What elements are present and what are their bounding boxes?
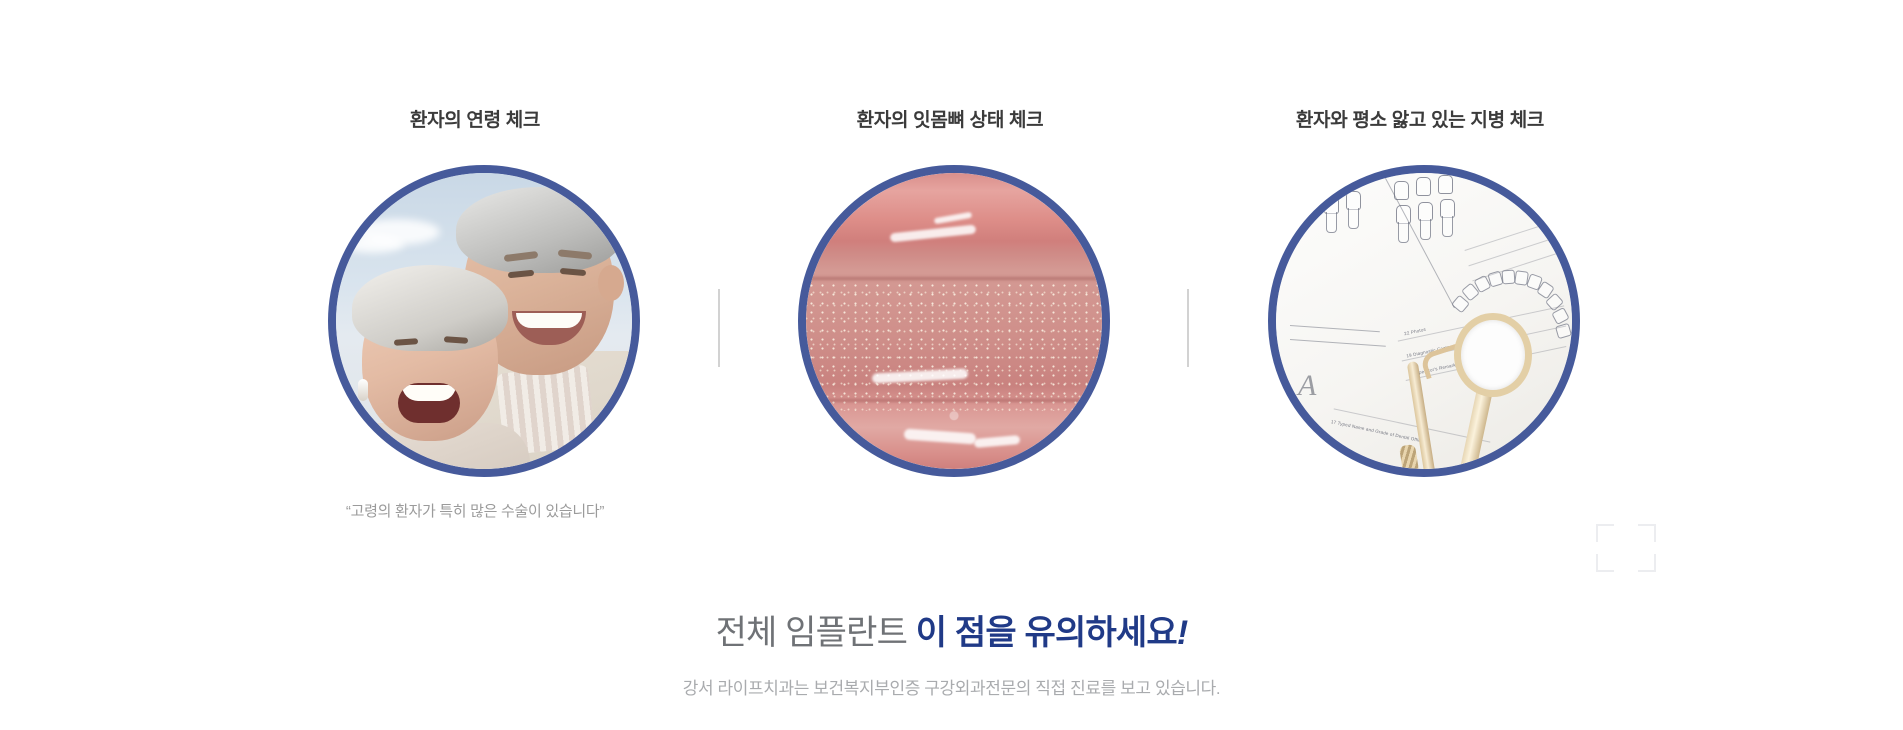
form-rule-line bbox=[1290, 325, 1380, 332]
sky-background bbox=[336, 173, 632, 469]
column-divider bbox=[718, 289, 720, 367]
tooth-diagram-root bbox=[1442, 216, 1453, 237]
dental-mirror-head bbox=[1454, 313, 1532, 397]
dental-record-paper: MAXILLARY 22 Photos 19 Diagnostic Casts … bbox=[1276, 173, 1572, 469]
form-rule-line bbox=[1468, 233, 1569, 267]
saliva-highlight bbox=[904, 429, 977, 445]
man-teeth bbox=[516, 313, 582, 328]
headline-plain-text: 전체 임플란트 bbox=[716, 614, 908, 652]
expand-corner-bottom-left bbox=[1596, 554, 1614, 572]
elderly-couple-photo bbox=[336, 173, 632, 469]
chart-row-text: 17 Typed Name and Grade of Dental Office… bbox=[1331, 419, 1426, 444]
tooth-diagram-root bbox=[1326, 212, 1337, 233]
implant-notice-section: 환자의 연령 체크 환자의 잇몸뼈 상태 체크 환자와 평소 앓고 있는 지병 … bbox=[0, 0, 1903, 730]
section-subtitle: 강서 라이프치과는 보건복지부인증 구강외과전문의 직접 진료를 보고 있습니다… bbox=[0, 674, 1903, 699]
dental-chart-instruments-photo: MAXILLARY 22 Photos 19 Diagnostic Casts … bbox=[1276, 173, 1572, 469]
tooth-diagram-root bbox=[1348, 208, 1359, 229]
expand-corner-top-left bbox=[1596, 524, 1614, 542]
form-rule-line bbox=[1290, 339, 1386, 347]
dental-explorer-grip bbox=[1399, 444, 1421, 469]
expand-corner-bottom-right bbox=[1638, 554, 1656, 572]
tooth-diagram-root bbox=[1420, 219, 1431, 240]
woman-earring bbox=[358, 379, 368, 401]
tooth-diagram-crown bbox=[1416, 177, 1431, 196]
cloud-shape bbox=[342, 235, 404, 253]
column-heading-age-check: 환자의 연령 체크 bbox=[265, 105, 685, 132]
oral-mucosa-surface bbox=[806, 173, 1102, 469]
expand-corner-top-right bbox=[1638, 524, 1656, 542]
man-ear bbox=[598, 265, 624, 301]
column-divider bbox=[1187, 289, 1189, 367]
circle-image-dental-chart: MAXILLARY 22 Photos 19 Diagnostic Casts … bbox=[1268, 165, 1580, 477]
column-heading-gum-bone-check: 환자의 잇몸뼈 상태 체크 bbox=[740, 105, 1160, 132]
woman-gray-hair bbox=[352, 265, 508, 351]
gum-speckle-texture bbox=[806, 281, 1102, 411]
handwritten-initials: A bbox=[1298, 369, 1318, 403]
section-headline: 전체 임플란트 이 점을 유의하세요! bbox=[0, 605, 1903, 654]
headline-accent-text: 이 점을 유의하세요 bbox=[916, 614, 1177, 652]
column-caption-age-check: “고령의 환자가 특히 많은 수술이 있습니다” bbox=[265, 500, 685, 521]
saliva-highlight bbox=[890, 225, 976, 243]
circle-image-gum-tissue bbox=[798, 165, 1110, 477]
form-rule-line bbox=[1465, 216, 1570, 251]
lower-lip-line bbox=[806, 399, 1102, 402]
woman-teeth bbox=[402, 385, 456, 401]
upper-lip-line bbox=[806, 277, 1102, 280]
woman-laughing-mouth bbox=[398, 383, 460, 423]
expand-fullscreen-icon[interactable] bbox=[1596, 524, 1656, 572]
headline-exclamation: ! bbox=[1177, 614, 1188, 652]
tooth-diagram-root bbox=[1398, 222, 1409, 243]
saliva-highlight bbox=[974, 435, 1021, 448]
man-gray-hair bbox=[456, 187, 622, 273]
gum-tissue-closeup-photo bbox=[806, 173, 1102, 469]
circle-image-elderly-couple bbox=[328, 165, 640, 477]
tooth-diagram-crown bbox=[1438, 175, 1453, 194]
column-heading-disease-check: 환자와 평소 앓고 있는 지병 체크 bbox=[1210, 105, 1630, 132]
arch-tooth bbox=[1502, 270, 1516, 285]
saliva-highlight bbox=[934, 212, 972, 225]
